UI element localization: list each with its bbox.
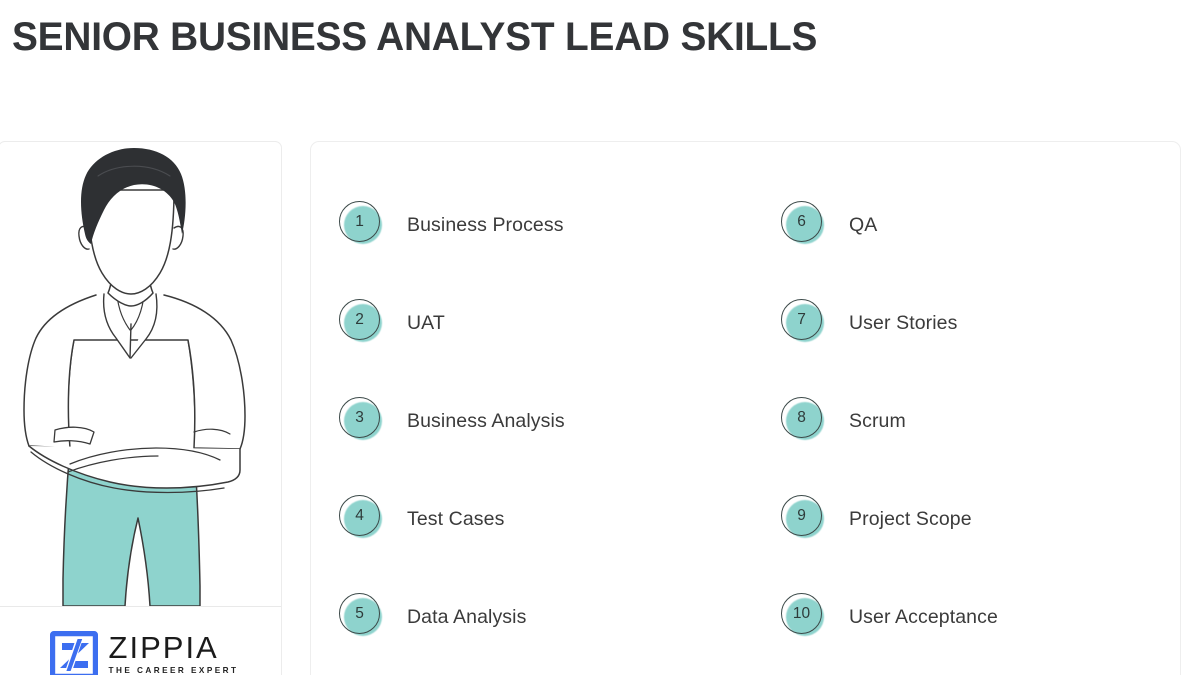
skill-label-10: User Acceptance [849,604,998,630]
zippia-z-mark-icon [50,631,98,675]
skill-number-4: 4 [339,495,380,536]
skill-number-7: 7 [781,299,822,340]
skill-item-4[interactable]: 4 Test Cases [311,470,766,568]
skill-badge-5: 5 [339,593,387,641]
person-illustration-svg [0,142,281,606]
skill-label-4: Test Cases [407,506,504,532]
skill-badge-4: 4 [339,495,387,543]
skill-label-3: Business Analysis [407,408,565,434]
person-illustration [0,142,281,606]
skill-item-5[interactable]: 5 Data Analysis [311,568,766,666]
skill-label-5: Data Analysis [407,604,526,630]
skill-number-1: 1 [339,201,380,242]
skill-badge-6: 6 [781,201,829,249]
skill-item-7[interactable]: 7 User Stories [766,274,1180,372]
zippia-logo[interactable]: ZIPPIA THE CAREER EXPERT [0,607,281,675]
skill-number-6: 6 [781,201,822,242]
arm-upper [29,446,240,488]
skill-badge-2: 2 [339,299,387,347]
skill-label-2: UAT [407,310,445,336]
skill-item-9[interactable]: 9 Project Scope [766,470,1180,568]
skill-item-8[interactable]: 8 Scrum [766,372,1180,470]
skill-badge-8: 8 [781,397,829,445]
skill-number-2: 2 [339,299,380,340]
skill-item-6[interactable]: 6 QA [766,176,1180,274]
skill-badge-9: 9 [781,495,829,543]
skills-grid: 1 Business Process 6 QA 2 UAT [311,142,1180,675]
skills-card: 1 Business Process 6 QA 2 UAT [310,141,1181,675]
skill-label-1: Business Process [407,212,564,238]
illustration-panel: ZIPPIA THE CAREER EXPERT [0,141,282,675]
page-title: SENIOR BUSINESS ANALYST LEAD SKILLS [12,13,817,61]
skill-label-8: Scrum [849,408,906,434]
zippia-wordmark: ZIPPIA [109,632,239,664]
skill-label-9: Project Scope [849,506,972,532]
skill-label-6: QA [849,212,877,238]
skill-item-3[interactable]: 3 Business Analysis [311,372,766,470]
skill-label-7: User Stories [849,310,957,336]
skill-badge-3: 3 [339,397,387,445]
zippia-tagline: THE CAREER EXPERT [109,665,239,675]
skill-badge-10: 10 [781,593,829,641]
skill-number-8: 8 [781,397,822,438]
skill-number-10: 10 [781,593,822,634]
skill-number-9: 9 [781,495,822,536]
skill-item-10[interactable]: 10 User Acceptance [766,568,1180,666]
skill-badge-1: 1 [339,201,387,249]
skill-badge-7: 7 [781,299,829,347]
skill-number-5: 5 [339,593,380,634]
skill-item-2[interactable]: 2 UAT [311,274,766,372]
skill-item-1[interactable]: 1 Business Process [311,176,766,274]
skill-number-3: 3 [339,397,380,438]
